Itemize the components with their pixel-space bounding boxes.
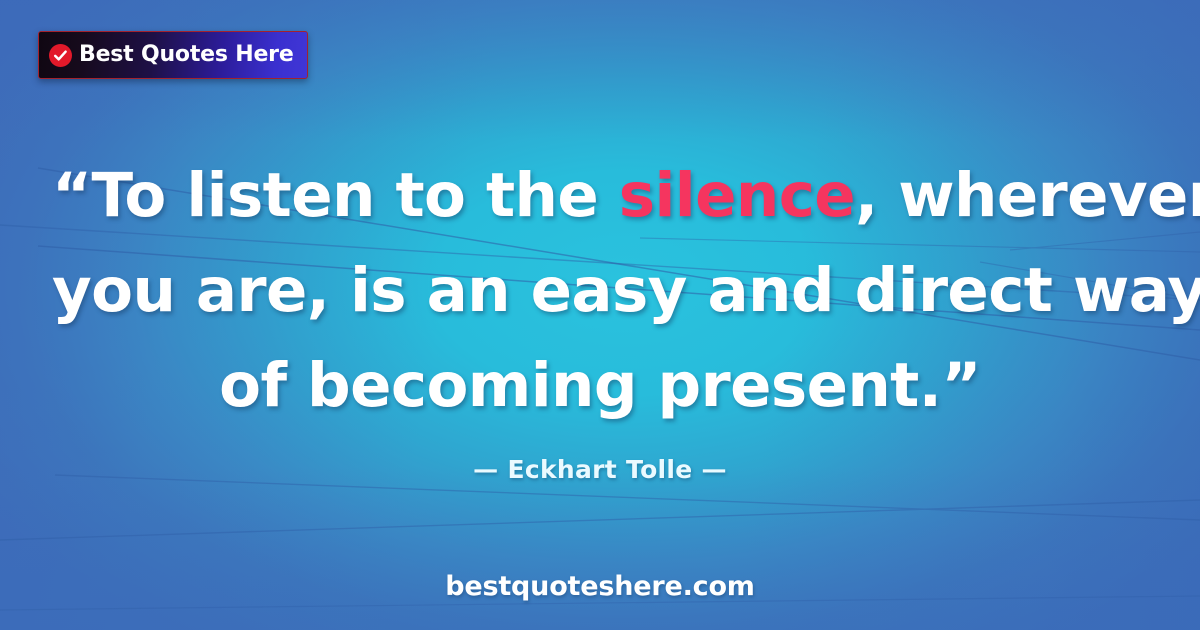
- quote-line-1-before: “To listen to the: [52, 160, 619, 231]
- quote-highlight-word: silence: [619, 160, 855, 231]
- quote-author: — Eckhart Tolle —: [0, 455, 1200, 484]
- site-url: bestquoteshere.com: [0, 571, 1200, 602]
- quote-block: “To listen to the silence, wherever you …: [0, 148, 1200, 433]
- brand-badge[interactable]: Best Quotes Here: [38, 31, 308, 79]
- quote-line-3-text: of becoming present.”: [219, 350, 981, 421]
- quote-line-3: of becoming present.”: [52, 338, 1148, 433]
- quote-line-2-text: you are, is an easy and direct way: [52, 255, 1200, 326]
- brand-badge-label: Best Quotes Here: [79, 44, 294, 66]
- quote-line-1-after: , wherever: [855, 160, 1200, 231]
- check-circle-icon: [49, 44, 72, 67]
- quote-line-2: you are, is an easy and direct way: [52, 243, 1148, 338]
- quote-card: Best Quotes Here “To listen to the silen…: [0, 0, 1200, 630]
- quote-line-1: “To listen to the silence, wherever: [52, 148, 1148, 243]
